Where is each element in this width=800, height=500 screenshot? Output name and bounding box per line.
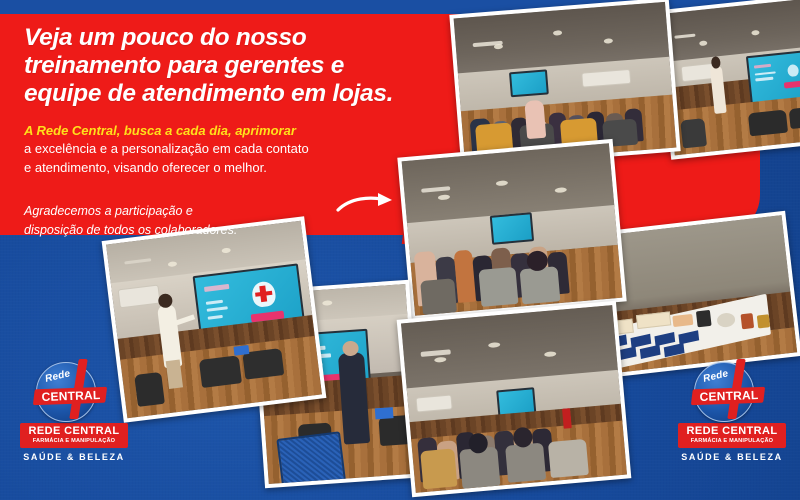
thanks-line-2: disposição de todos os colaboradores. (24, 221, 399, 240)
photo-audience-wide-image (454, 2, 677, 164)
logo-wordmark: REDE CENTRAL FARMÁCIA E MANIPULAÇÃO (20, 423, 128, 448)
logo-badge-right: Rede CENTRAL (686, 362, 778, 420)
photo-presenter-pointing-image (106, 221, 322, 419)
photo-audience-seated (397, 301, 632, 497)
page-title: Veja um pouco do nosso treinamento para … (24, 24, 399, 108)
logo-tagline: SAÚDE & BELEZA (18, 452, 130, 462)
photo-audience-back-image (402, 143, 623, 316)
logo-wordmark-line-2: FARMÁCIA E MANIPULAÇÃO (22, 438, 126, 446)
poster-canvas: Veja um pouco do nosso treinamento para … (0, 0, 800, 500)
photo-presenter-pointing (102, 216, 327, 422)
logo-wordmark-line-1-right: REDE CENTRAL (680, 426, 784, 438)
logo-bottom-right: Rede CENTRAL REDE CENTRAL FARMÁCIA E MAN… (676, 362, 788, 462)
logo-wordmark-line-1: REDE CENTRAL (22, 426, 126, 438)
logo-main-word-right: CENTRAL (695, 388, 763, 404)
logo-wordmark-right: REDE CENTRAL FARMÁCIA E MANIPULAÇÃO (678, 423, 786, 448)
body-text-line-2: e atendimento, visando oferecer o melhor… (24, 159, 399, 178)
logo-bottom-left: Rede CENTRAL REDE CENTRAL FARMÁCIA E MAN… (18, 362, 130, 462)
lead-text: A Rede Central, busca a cada dia, aprimo… (24, 122, 399, 140)
logo-wordmark-line-2-right: FARMÁCIA E MANIPULAÇÃO (680, 438, 784, 446)
logo-badge: Rede CENTRAL (28, 362, 120, 420)
photo-audience-back (397, 139, 626, 320)
photo-audience-seated-image (401, 305, 627, 493)
logo-tagline-right: SAÚDE & BELEZA (676, 452, 788, 462)
body-text-line-1: a excelência e a personalização em cada … (24, 140, 399, 159)
photo-speaker-screen-image (660, 0, 800, 155)
logo-main-word: CENTRAL (37, 388, 105, 404)
curved-arrow-right-icon (336, 192, 398, 218)
